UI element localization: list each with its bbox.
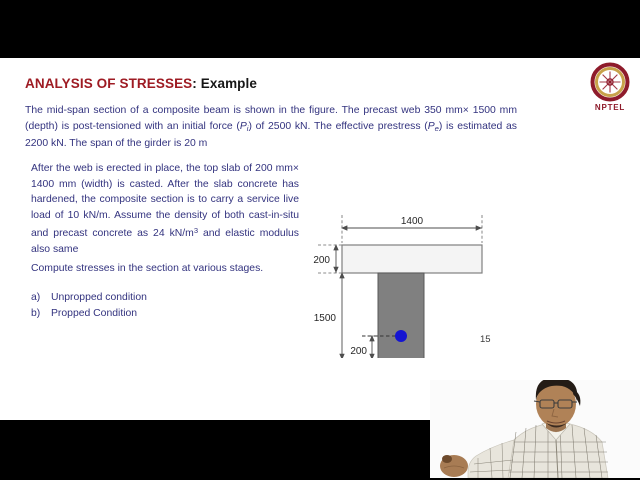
dimension-flange-width: 1400 <box>342 216 482 228</box>
nptel-logo: NPTEL <box>588 62 632 116</box>
page-title: ANALYSIS OF STRESSES: Example <box>25 76 257 91</box>
paragraph-construction-sequence: After the web is erected in place, the t… <box>31 161 299 258</box>
dimension-slab-depth-label: 200 <box>313 255 330 266</box>
slab-rectangle <box>342 245 482 273</box>
paragraph1-part-b: ) of 2500 kN. The effective prestress ( <box>248 121 427 132</box>
page-title-sub: Example <box>201 76 257 91</box>
lecture-slide: ANALYSIS OF STRESSES: Example The mid-sp… <box>0 58 640 420</box>
task-list: a) Unpropped condition b) Propped Condit… <box>31 290 311 321</box>
page-title-separator: : <box>192 76 200 91</box>
tendon-marker <box>395 330 407 342</box>
nptel-emblem-icon <box>590 62 630 102</box>
paragraph-task: Compute stresses in the section at vario… <box>31 261 299 277</box>
dimension-web-depth: 1500 <box>314 273 342 358</box>
dimension-flange-width-label: 1400 <box>401 216 424 227</box>
dimension-slab-depth: 200 <box>313 245 336 273</box>
page-title-main: ANALYSIS OF STRESSES <box>25 76 192 91</box>
list-item-label: Unpropped condition <box>51 290 147 306</box>
list-item-label: Propped Condition <box>51 306 137 322</box>
video-frame: ANALYSIS OF STRESSES: Example The mid-sp… <box>0 0 640 480</box>
beam-cross-section-figure: 1400 200 1500 200 <box>300 158 530 358</box>
list-item-marker: a) <box>31 290 51 306</box>
list-item: b) Propped Condition <box>31 306 311 322</box>
presenter-image <box>430 380 640 478</box>
presenter-video <box>430 380 640 478</box>
paragraph-problem-statement: The mid-span section of a composite beam… <box>25 103 517 152</box>
dimension-web-depth-label: 1500 <box>314 313 337 324</box>
nptel-logo-text: NPTEL <box>588 103 632 112</box>
symbol-initial-prestress: P <box>240 121 247 132</box>
symbol-effective-prestress: P <box>428 121 435 132</box>
web-rectangle <box>378 273 424 358</box>
dimension-tendon-eccentricity: 200 <box>350 336 372 358</box>
list-item-marker: b) <box>31 306 51 322</box>
dimension-tendon-eccentricity-label: 200 <box>350 346 367 357</box>
list-item: a) Unpropped condition <box>31 290 311 306</box>
